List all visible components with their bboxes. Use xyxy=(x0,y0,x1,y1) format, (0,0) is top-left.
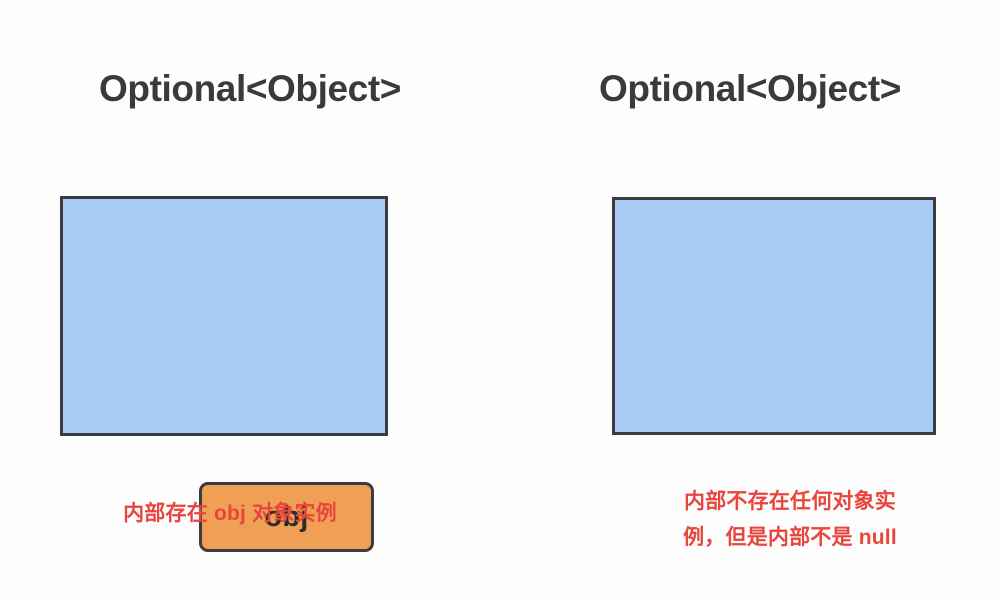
diagram-canvas: Optional<Object> obj 内部存在 obj 对象实例 Optio… xyxy=(0,0,1000,600)
caption-right-line-2: 例，但是内部不是 null xyxy=(630,520,950,556)
caption-left: 内部存在 obj 对象实例 xyxy=(0,496,460,532)
panel-optional-with-value: Optional<Object> obj 内部存在 obj 对象实例 xyxy=(0,0,500,600)
optional-container-box-right xyxy=(612,197,936,435)
panel-optional-empty: Optional<Object> 内部不存在任何对象实 例，但是内部不是 nul… xyxy=(500,0,1000,600)
caption-left-line-1: 内部存在 obj 对象实例 xyxy=(0,496,460,532)
caption-right: 内部不存在任何对象实 例，但是内部不是 null xyxy=(630,484,950,556)
optional-container-box-left: obj xyxy=(60,196,388,436)
panel-heading-right: Optional<Object> xyxy=(500,66,1000,112)
panel-heading-left: Optional<Object> xyxy=(0,66,500,112)
caption-right-line-1: 内部不存在任何对象实 xyxy=(630,484,950,520)
